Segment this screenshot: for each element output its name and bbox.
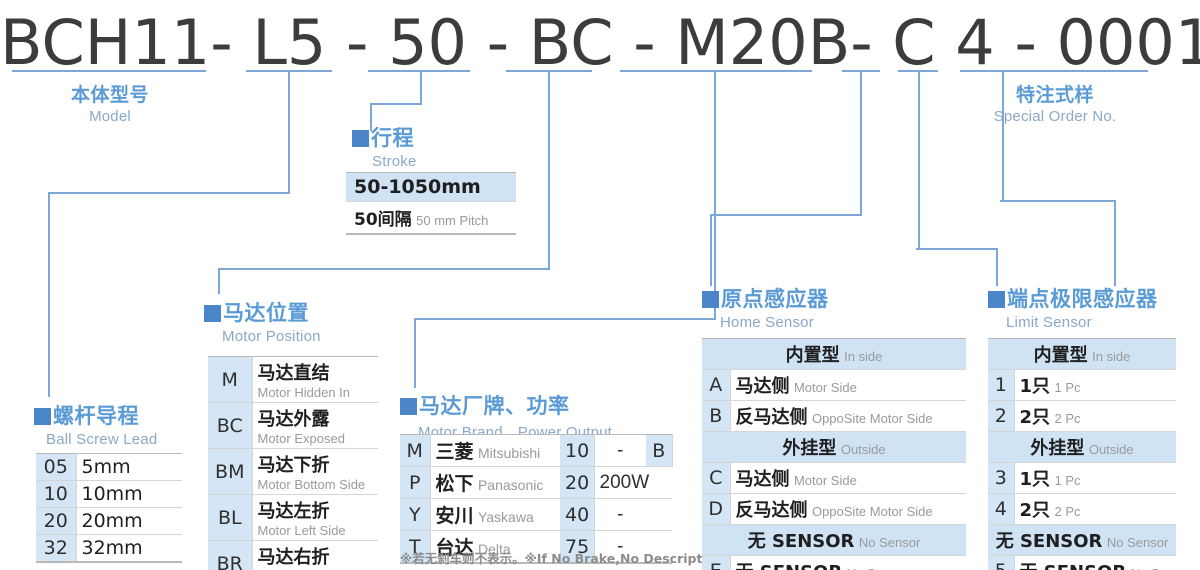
limit-sensor-desc: 无 SENSOR No Sensor <box>1014 556 1176 570</box>
square-bullet-icon <box>352 130 369 147</box>
motor-position-table: M马达直结Motor Hidden InBC马达外露Motor ExposedB… <box>208 356 378 570</box>
motor-position-code: BR <box>208 541 252 570</box>
home-sensor-table: 内置型 In sideA马达侧 Motor SideB反马达侧 OppoSite… <box>702 338 966 570</box>
table-band-row[interactable]: 内置型 In side <box>988 339 1176 370</box>
motor-power-code: 20 <box>560 467 594 499</box>
connector-lead-h1 <box>48 192 290 194</box>
home-sensor-desc: 马达侧 Motor Side <box>730 370 966 401</box>
connector-home-h1 <box>710 214 862 216</box>
lead-value: 20mm <box>76 508 182 535</box>
motor-position-desc: 马达左折Motor Left Side <box>252 495 378 541</box>
motor-position-code: BC <box>208 403 252 449</box>
section-home-sensor: 原点感应器 Home Sensor <box>702 283 829 331</box>
connector-brand-v2 <box>414 318 416 388</box>
lead-code: 32 <box>36 535 76 563</box>
table-row[interactable]: BR马达右折Motor Right Side <box>208 541 378 570</box>
motor-brake-code <box>646 499 672 531</box>
motor-brand-code: Y <box>400 499 430 531</box>
section-model-en: Model <box>30 108 190 125</box>
table-row[interactable]: 2020mm <box>36 508 182 535</box>
motor-brand-name: 三菱 Mitsubishi <box>430 435 560 467</box>
section-motor-position-en: Motor Position <box>222 328 321 345</box>
table-band-row[interactable]: 外挂型 Outside <box>702 432 966 463</box>
sensor-band: 无 SENSOR No Sensor <box>988 525 1176 556</box>
table-row[interactable]: 22只 2 Pc <box>988 401 1176 432</box>
connector-lead-v2 <box>48 192 50 397</box>
limit-sensor-desc: 1只 1 Pc <box>1014 370 1176 401</box>
section-stroke-cn: 行程 <box>371 122 414 152</box>
limit-sensor-table: 内置型 In side11只 1 Pc22只 2 Pc外挂型 Outside31… <box>988 338 1176 570</box>
connector-mpos-h1 <box>218 268 550 270</box>
connector-brand-h1 <box>414 318 716 320</box>
table-row[interactable]: 42只 2 Pc <box>988 494 1176 525</box>
lead-value: 10mm <box>76 481 182 508</box>
connector-home-v1 <box>860 70 862 216</box>
table-row[interactable]: E无 SENSOR No Sensor <box>702 556 966 570</box>
underline-stroke <box>368 70 470 72</box>
sensor-band: 外挂型 Outside <box>702 432 966 463</box>
home-sensor-code: A <box>702 370 730 401</box>
underline-motor-brand <box>620 70 812 72</box>
connector-special-v2 <box>1114 200 1116 286</box>
stroke-pitch-en: 50 mm Pitch <box>416 213 488 228</box>
table-row[interactable]: B反马达侧 OppoSite Motor Side <box>702 401 966 432</box>
table-row[interactable]: BL马达左折Motor Left Side <box>208 495 378 541</box>
motor-position-desc: 马达直结Motor Hidden In <box>252 357 378 403</box>
table-band-row[interactable]: 内置型 In side <box>702 339 966 370</box>
table-row[interactable]: 31只 1 Pc <box>988 463 1176 494</box>
section-model: 本体型号 Model <box>30 80 190 125</box>
section-special-order: 特注式样 Special Order No. <box>960 80 1150 125</box>
square-bullet-icon <box>702 291 719 308</box>
square-bullet-icon <box>988 291 1005 308</box>
table-row[interactable]: 3232mm <box>36 535 182 563</box>
lead-code: 05 <box>36 454 76 481</box>
table-row[interactable]: M三菱 Mitsubishi10-B <box>400 435 672 467</box>
square-bullet-icon <box>400 398 417 415</box>
lead-code: 20 <box>36 508 76 535</box>
stroke-pitch-cn: 50间隔 <box>354 210 412 230</box>
section-stroke-en: Stroke <box>372 153 417 170</box>
section-limit-sensor: 端点极限感应器 Limit Sensor <box>988 283 1158 331</box>
table-band-row[interactable]: 外挂型 Outside <box>988 432 1176 463</box>
table-row[interactable]: BM马达下折Motor Bottom Side <box>208 449 378 495</box>
limit-sensor-desc: 2只 2 Pc <box>1014 401 1176 432</box>
motor-brake-code <box>646 467 672 499</box>
motor-brand-name: 松下 Panasonic <box>430 467 560 499</box>
connector-limit-v1 <box>918 70 920 250</box>
motor-power-value: - <box>594 499 646 531</box>
section-limit-sensor-cn: 端点极限感应器 <box>1007 283 1158 313</box>
motor-power-value: 200W <box>594 467 646 499</box>
section-special-order-en: Special Order No. <box>960 108 1150 125</box>
ball-screw-lead-table: 055mm1010mm2020mm3232mm <box>36 453 182 563</box>
home-sensor-code: C <box>702 463 730 494</box>
table-row[interactable]: M马达直结Motor Hidden In <box>208 357 378 403</box>
section-ball-screw-lead-en: Ball Screw Lead <box>46 431 157 448</box>
section-special-order-cn: 特注式样 <box>1016 80 1094 107</box>
connector-mpos-v1 <box>548 70 550 270</box>
motor-power-value: - <box>594 435 646 467</box>
motor-brand-footnote: ※若无刹车则不表示。※If No Brake,No Description. <box>400 548 729 567</box>
motor-position-code: BL <box>208 495 252 541</box>
lead-value: 5mm <box>76 454 182 481</box>
section-ball-screw-lead: 螺杆导程 Ball Screw Lead <box>34 400 157 448</box>
motor-power-code: 10 <box>560 435 594 467</box>
motor-position-desc: 马达外露Motor Exposed <box>252 403 378 449</box>
stroke-pitch: 50间隔 50 mm Pitch <box>346 202 516 235</box>
connector-home-v2 <box>710 214 712 286</box>
connector-mpos-v2 <box>218 268 220 294</box>
connector-special-h1 <box>1000 200 1116 202</box>
stroke-table: 50-1050mm 50间隔 50 mm Pitch <box>346 172 516 235</box>
table-row[interactable]: D反马达侧 OppoSite Motor Side <box>702 494 966 525</box>
home-sensor-desc: 马达侧 Motor Side <box>730 463 966 494</box>
motor-power-code: 40 <box>560 499 594 531</box>
motor-position-desc: 马达右折Motor Right Side <box>252 541 378 570</box>
connector-stroke-h1 <box>370 103 422 105</box>
motor-position-desc: 马达下折Motor Bottom Side <box>252 449 378 495</box>
stroke-range: 50-1050mm <box>346 172 516 202</box>
section-limit-sensor-en: Limit Sensor <box>1006 314 1158 331</box>
section-model-cn: 本体型号 <box>71 80 149 107</box>
limit-sensor-code: 5 <box>988 556 1014 570</box>
underline-special-order <box>960 70 1148 72</box>
connector-limit-h1 <box>916 248 998 250</box>
home-sensor-code: E <box>702 556 730 570</box>
home-sensor-desc: 反马达侧 OppoSite Motor Side <box>730 494 966 525</box>
home-sensor-code: D <box>702 494 730 525</box>
table-band-row[interactable]: 无 SENSOR No Sensor <box>702 525 966 556</box>
connector-limit-v2 <box>996 248 998 286</box>
motor-position-code: BM <box>208 449 252 495</box>
section-home-sensor-cn: 原点感应器 <box>721 283 829 313</box>
connector-stroke-v1 <box>420 70 422 104</box>
sensor-band: 内置型 In side <box>988 339 1176 370</box>
section-motor-position-cn: 马达位置 <box>223 297 309 327</box>
section-home-sensor-en: Home Sensor <box>720 314 829 331</box>
section-stroke: 行程 Stroke <box>352 122 417 170</box>
table-row[interactable]: BC马达外露Motor Exposed <box>208 403 378 449</box>
square-bullet-icon <box>204 305 221 322</box>
limit-sensor-code: 1 <box>988 370 1014 401</box>
table-row[interactable]: 1010mm <box>36 481 182 508</box>
limit-sensor-code: 3 <box>988 463 1014 494</box>
section-ball-screw-lead-cn: 螺杆导程 <box>53 400 139 430</box>
table-band-row[interactable]: 无 SENSOR No Sensor <box>988 525 1176 556</box>
limit-sensor-code: 2 <box>988 401 1014 432</box>
motor-brake-code: B <box>646 435 672 467</box>
table-row[interactable]: 5无 SENSOR No Sensor <box>988 556 1176 570</box>
table-row[interactable]: Y安川 Yaskawa40- <box>400 499 672 531</box>
table-row[interactable]: 055mm <box>36 454 182 481</box>
sensor-band: 外挂型 Outside <box>988 432 1176 463</box>
motor-brand-table: M三菱 Mitsubishi10-BP松下 Panasonic20200WY安川… <box>400 434 673 564</box>
table-row[interactable]: C马达侧 Motor Side <box>702 463 966 494</box>
lead-value: 32mm <box>76 535 182 563</box>
square-bullet-icon <box>34 408 51 425</box>
limit-sensor-code: 4 <box>988 494 1014 525</box>
section-motor-brand-cn: 马达厂牌、功率 <box>419 390 570 420</box>
product-code-diagram: BCH11- L5 - 50 - BC - M20B- C 4 - 0001 本… <box>0 0 1200 570</box>
home-sensor-desc: 无 SENSOR No Sensor <box>730 556 966 570</box>
underline-model <box>12 70 206 72</box>
table-row[interactable]: 11只 1 Pc <box>988 370 1176 401</box>
limit-sensor-desc: 2只 2 Pc <box>1014 494 1176 525</box>
table-row[interactable]: P松下 Panasonic20200W <box>400 467 672 499</box>
limit-sensor-desc: 1只 1 Pc <box>1014 463 1176 494</box>
table-row[interactable]: A马达侧 Motor Side <box>702 370 966 401</box>
lead-code: 10 <box>36 481 76 508</box>
home-sensor-desc: 反马达侧 OppoSite Motor Side <box>730 401 966 432</box>
home-sensor-code: B <box>702 401 730 432</box>
motor-brand-code: P <box>400 467 430 499</box>
motor-position-code: M <box>208 357 252 403</box>
product-code-title: BCH11- L5 - 50 - BC - M20B- C 4 - 0001 <box>0 6 1200 79</box>
motor-brand-name: 安川 Yaskawa <box>430 499 560 531</box>
sensor-band: 无 SENSOR No Sensor <box>702 525 966 556</box>
connector-lead-v1 <box>288 70 290 193</box>
section-motor-position: 马达位置 Motor Position <box>204 297 321 345</box>
sensor-band: 内置型 In side <box>702 339 966 370</box>
motor-brand-code: M <box>400 435 430 467</box>
